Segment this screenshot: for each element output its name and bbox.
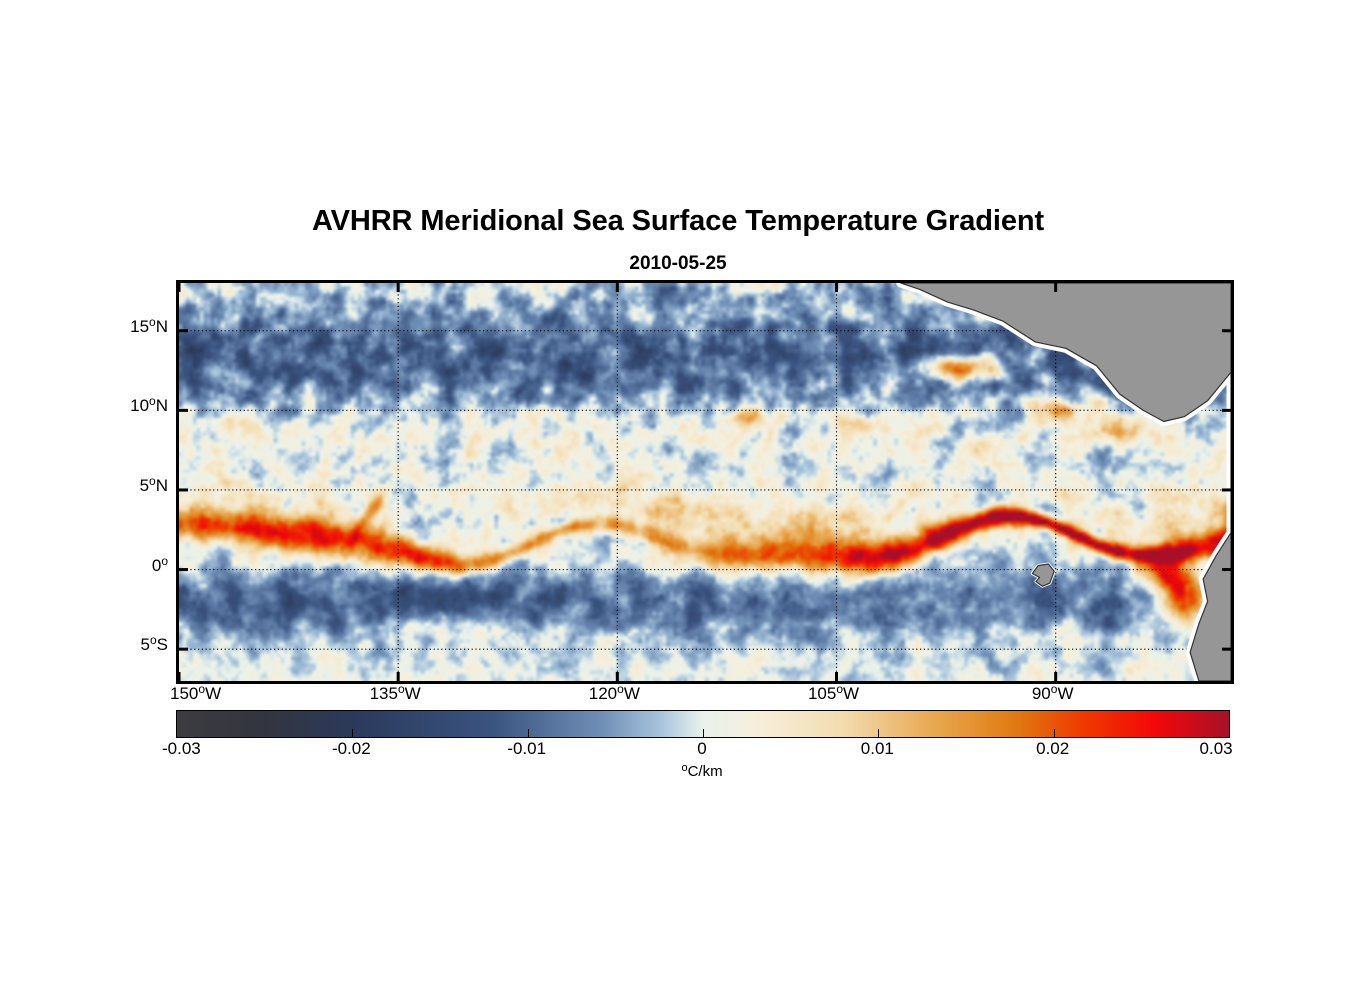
- colorbar-tick: [703, 729, 704, 737]
- colorbar: [176, 710, 1230, 738]
- colorbar-tick-label-0: 0: [697, 739, 706, 759]
- colorbar-tick-label--0.01: -0.01: [507, 739, 546, 759]
- colorbar-tick: [1054, 729, 1055, 737]
- colorbar-unit-label: oC/km: [176, 763, 1228, 780]
- y-tick-label-15N: 15oN: [108, 317, 168, 337]
- x-tick-label-90W: 90oW: [1032, 684, 1074, 704]
- y-tick-label-0eq: 0o: [108, 556, 168, 576]
- x-axis-tick-labels: 150oW135oW120oW105oW90oW: [176, 684, 1228, 710]
- colorbar-tick-label--0.03: -0.03: [162, 739, 201, 759]
- x-tick-label-120W: 120oW: [589, 684, 640, 704]
- x-tick-label-135W: 135oW: [370, 684, 421, 704]
- colorbar-tick-labels: -0.03-0.02-0.0100.010.020.03: [176, 739, 1228, 763]
- map-axes: [176, 280, 1234, 684]
- map-field: [179, 283, 1231, 681]
- y-tick-label-5S: 5oS: [108, 635, 168, 655]
- page-title: AVHRR Meridional Sea Surface Temperature…: [0, 205, 1356, 238]
- y-tick-label-5N: 5oN: [108, 476, 168, 496]
- colorbar-tick-label--0.02: -0.02: [332, 739, 371, 759]
- figure-canvas: AVHRR Meridional Sea Surface Temperature…: [0, 0, 1356, 1000]
- colorbar-tick: [528, 729, 529, 737]
- colorbar-tick-label-0.03: 0.03: [1200, 739, 1233, 759]
- x-tick-label-150W: 150oW: [170, 684, 221, 704]
- y-tick-label-10N: 10oN: [108, 396, 168, 416]
- colorbar-tick: [878, 729, 879, 737]
- unit-text: C/km: [688, 763, 723, 780]
- colorbar-tick: [352, 729, 353, 737]
- figure-date-subtitle: 2010-05-25: [0, 253, 1356, 275]
- y-axis-tick-labels: 15oN10oN5oN0o5oS: [100, 280, 168, 678]
- colorbar-tick-label-0.02: 0.02: [1036, 739, 1069, 759]
- x-tick-label-105W: 105oW: [808, 684, 859, 704]
- colorbar-tick-label-0.01: 0.01: [861, 739, 894, 759]
